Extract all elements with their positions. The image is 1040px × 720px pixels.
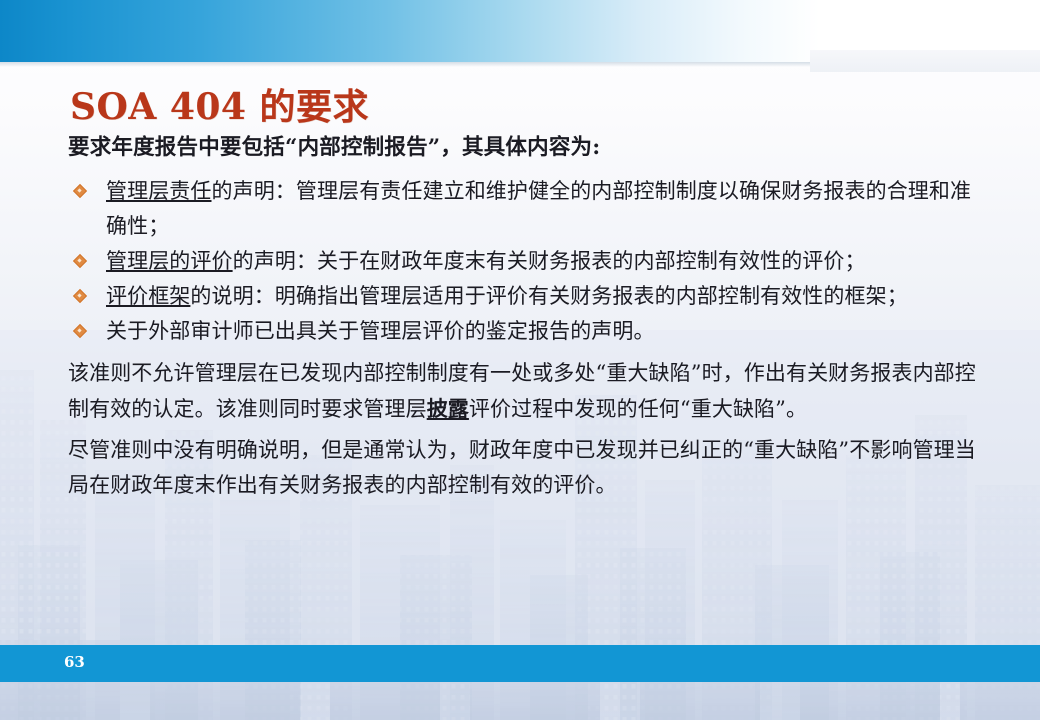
bullet-text: 的说明：明确指出管理层适用于评价有关财务报表的内部控制有效性的框架；	[190, 284, 907, 308]
page-title: SOA 404 的要求	[70, 78, 369, 130]
body-paragraph-2: 尽管准则中没有明确说明，但是通常认为，财政年度中已发现并已纠正的“重大缺陷”不影…	[68, 433, 978, 503]
bullet-emphasis: 评价框架	[106, 284, 190, 308]
list-item: 关于外部审计师已出具关于管理层评价的鉴定报告的声明。	[68, 314, 978, 349]
paragraph-text-part2: 评价过程中发现的任何“重大缺陷”。	[469, 397, 807, 421]
diamond-bullet-icon	[75, 326, 86, 337]
header-right-block	[810, 50, 1040, 72]
page-number: 63	[64, 653, 85, 671]
bullet-text: 的声明：关于在财政年度末有关财务报表的内部控制有效性的评价；	[233, 249, 866, 273]
diamond-bullet-icon	[75, 186, 86, 197]
list-item: 管理层责任的声明：管理层有责任建立和维护健全的内部控制制度以确保财务报表的合理和…	[68, 174, 978, 244]
lead-paragraph: 要求年度报告中要包括“内部控制报告”，其具体内容为:	[68, 133, 978, 163]
paragraph-text-part1: 尽管准则中没有明确说明，但是通常认为，财政年度中已发现并已纠正的“重大缺陷”不影…	[68, 438, 976, 497]
slide-body: 要求年度报告中要包括“内部控制报告”，其具体内容为: 管理层责任的声明：管理层有…	[68, 133, 978, 503]
bullet-text: 关于外部审计师已出具关于管理层评价的鉴定报告的声明。	[106, 319, 655, 343]
list-item: 评价框架的说明：明确指出管理层适用于评价有关财务报表的内部控制有效性的框架；	[68, 279, 978, 314]
bullet-list: 管理层责任的声明：管理层有责任建立和维护健全的内部控制制度以确保财务报表的合理和…	[68, 174, 978, 349]
bullet-text: 的声明：管理层有责任建立和维护健全的内部控制制度以确保财务报表的合理和准确性；	[106, 179, 971, 238]
list-item: 管理层的评价的声明：关于在财政年度末有关财务报表的内部控制有效性的评价；	[68, 244, 978, 279]
slide-canvas: SOA 404 的要求 要求年度报告中要包括“内部控制报告”，其具体内容为: 管…	[0, 0, 1040, 720]
diamond-bullet-icon	[75, 291, 86, 302]
footer-band	[0, 645, 1040, 682]
paragraph-emphasis: 披露	[427, 396, 469, 421]
diamond-bullet-icon	[75, 256, 86, 267]
bullet-emphasis: 管理层责任	[106, 179, 212, 203]
body-paragraph-1: 该准则不允许管理层在已发现内部控制制度有一处或多处“重大缺陷”时，作出有关财务报…	[68, 356, 978, 427]
bullet-emphasis: 管理层的评价	[106, 249, 233, 273]
